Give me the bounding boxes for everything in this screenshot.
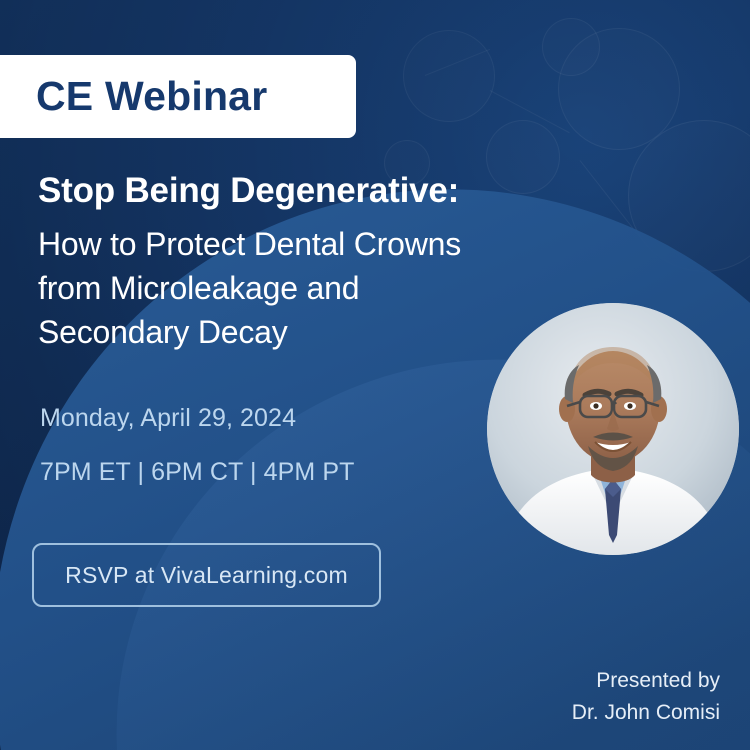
presenter-photo-illustration: [487, 303, 739, 555]
page-subtitle-line-1: How to Protect Dental Crowns: [38, 222, 638, 266]
page-title: Stop Being Degenerative:: [38, 170, 668, 211]
rsvp-button[interactable]: RSVP at VivaLearning.com: [32, 543, 381, 607]
presenter-credit: Presented by Dr. John Comisi: [572, 665, 720, 728]
webinar-times: 7PM ET | 6PM CT | 4PM PT: [40, 458, 355, 487]
presented-by-label: Presented by: [572, 665, 720, 697]
page-subtitle-line-2: from Microleakage and: [38, 266, 638, 310]
rsvp-button-label: RSVP at VivaLearning.com: [65, 562, 348, 589]
presenter-avatar: [487, 303, 739, 555]
ce-webinar-badge-label: CE Webinar: [36, 73, 267, 120]
ce-webinar-badge: CE Webinar: [0, 55, 356, 138]
presenter-name: Dr. John Comisi: [572, 697, 720, 729]
webinar-date: Monday, April 29, 2024: [40, 404, 296, 433]
webinar-promo-poster: CE Webinar Stop Being Degenerative: How …: [0, 0, 750, 750]
